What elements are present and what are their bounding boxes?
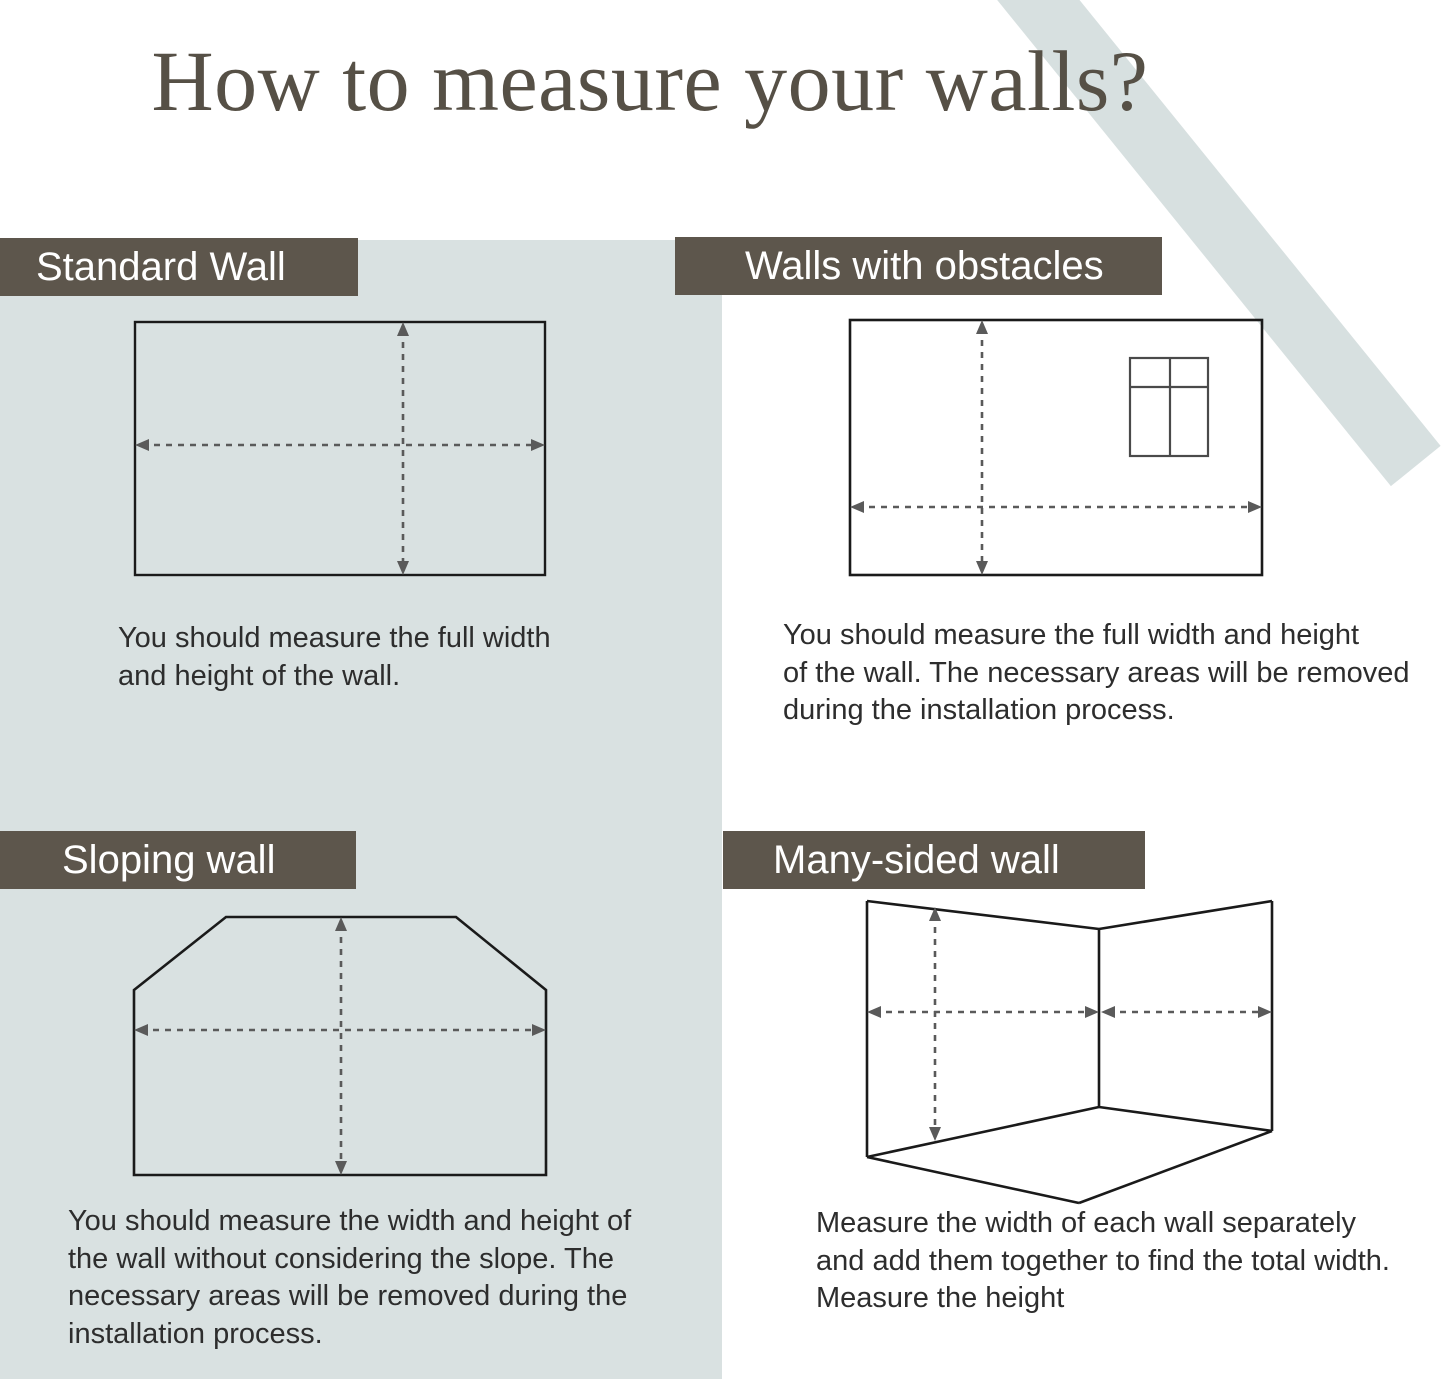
width-dimension-arrow	[850, 501, 1262, 513]
caption-many-sided-wall: Measure the width of each wall separatel…	[816, 1205, 1436, 1318]
right-wall-panel	[1099, 901, 1272, 1131]
section-header-many-sided-wall: Many-sided wall	[723, 831, 1145, 889]
caption-sloping-wall: You should measure the width and height …	[68, 1203, 668, 1354]
window-obstacle	[1130, 358, 1208, 456]
section-header-standard-wall: Standard Wall	[0, 238, 358, 296]
section-header-walls-with-obstacles: Walls with obstacles	[675, 237, 1162, 295]
caption-walls-with-obstacles: You should measure the full width and he…	[783, 617, 1423, 730]
page-title: How to measure your walls?	[0, 36, 1300, 126]
section-header-sloping-wall: Sloping wall	[0, 831, 356, 889]
right-wall-width-arrow	[1101, 1006, 1272, 1018]
height-dimension-arrow	[976, 320, 988, 575]
height-dimension-arrow	[335, 917, 347, 1175]
height-dimension-arrow	[929, 907, 941, 1141]
floor-edges	[867, 1131, 1272, 1203]
left-wall-width-arrow	[867, 1006, 1099, 1018]
caption-standard-wall: You should measure the full width and he…	[118, 620, 678, 695]
width-dimension-arrow	[135, 439, 545, 451]
wall-outline-rect	[135, 322, 545, 575]
height-dimension-arrow	[397, 322, 409, 575]
diagram-wall-with-obstacles	[830, 300, 1290, 600]
diagram-many-sided-wall	[840, 885, 1310, 1215]
diagram-standard-wall	[110, 300, 580, 600]
diagram-sloping-wall	[110, 895, 580, 1195]
infographic-page: How to measure your walls? Standard Wall…	[0, 0, 1445, 1386]
left-wall-panel	[867, 901, 1099, 1157]
